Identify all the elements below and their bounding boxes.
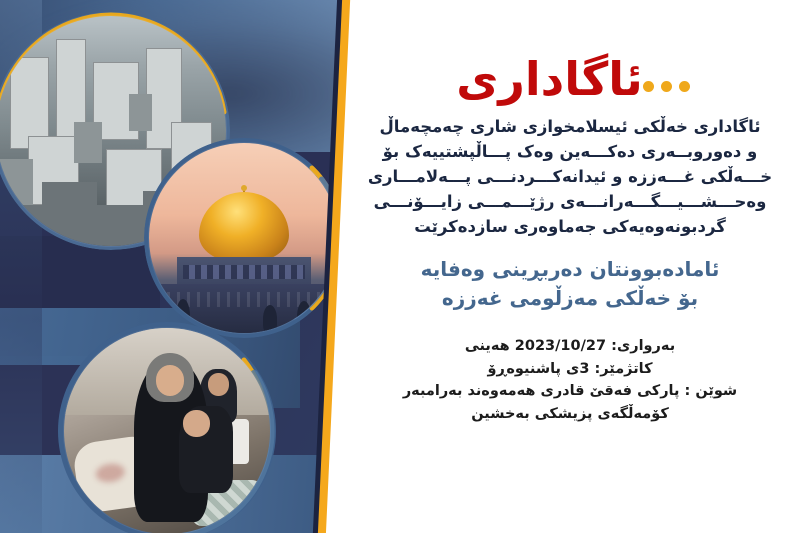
body-line-4: وەحـــشـــیـــگـــەرانـــەی رژێـــمـــی … <box>355 189 785 214</box>
card-content: ئاگاداری ئاگاداری خەڵکی ئیسلامخوازی شاری… <box>340 0 800 533</box>
body-line-1: ئاگاداری خەڵکی ئیسلامخوازی شاری چەمچەماڵ <box>355 114 785 139</box>
photo-grieving-family-frame <box>58 322 276 533</box>
poster-title: ئاگاداری <box>456 56 643 102</box>
poster-title-row: ئاگاداری <box>335 56 800 102</box>
detail-date: بەرواری: 2023/10/27 هەینی <box>355 335 785 357</box>
highlight-line-1: ئامادەبوونتان دەربڕینی وەفایە <box>360 255 780 284</box>
announcement-poster: ئاگاداری ئاگاداری خەڵکی ئیسلامخوازی شاری… <box>0 0 800 533</box>
photo-dome-of-the-rock <box>149 143 339 333</box>
body-line-2: و دەوروبــەری دەکـــەین وەک پـــاڵپشتییە… <box>355 139 785 164</box>
poster-highlight: ئامادەبوونتان دەربڕینی وەفایە بۆ خەڵکی م… <box>360 255 780 313</box>
photo-grieving-family <box>64 328 270 533</box>
detail-time: کاتژمێر: 3ی پاشنیوەڕۆ <box>355 358 785 380</box>
highlight-line-2: بۆ خەڵکی مەزڵومی غەززە <box>360 284 780 313</box>
title-dot-2 <box>661 81 672 92</box>
title-dot-1 <box>679 81 690 92</box>
photo-dome-of-the-rock-frame <box>144 138 344 338</box>
body-line-5: گردبونەوەیەکی جەماوەری سازدەکرێت <box>355 214 785 239</box>
title-dot-3 <box>643 81 654 92</box>
detail-location-line-1: شوێن : پارکی فەقێ قادری هەمەوەند بەرامبە… <box>355 380 785 402</box>
detail-location-line-2: کۆمەڵگەی پزیشکی بەخشین <box>355 403 785 425</box>
title-dots <box>643 81 690 92</box>
poster-body: ئاگاداری خەڵکی ئیسلامخوازی شاری چەمچەماڵ… <box>355 114 785 239</box>
poster-details: بەرواری: 2023/10/27 هەینی کاتژمێر: 3ی پا… <box>355 335 785 425</box>
body-line-3: خـــەڵکی غـــەززە و ئیدانەکـــردنـــی پـ… <box>355 164 785 189</box>
